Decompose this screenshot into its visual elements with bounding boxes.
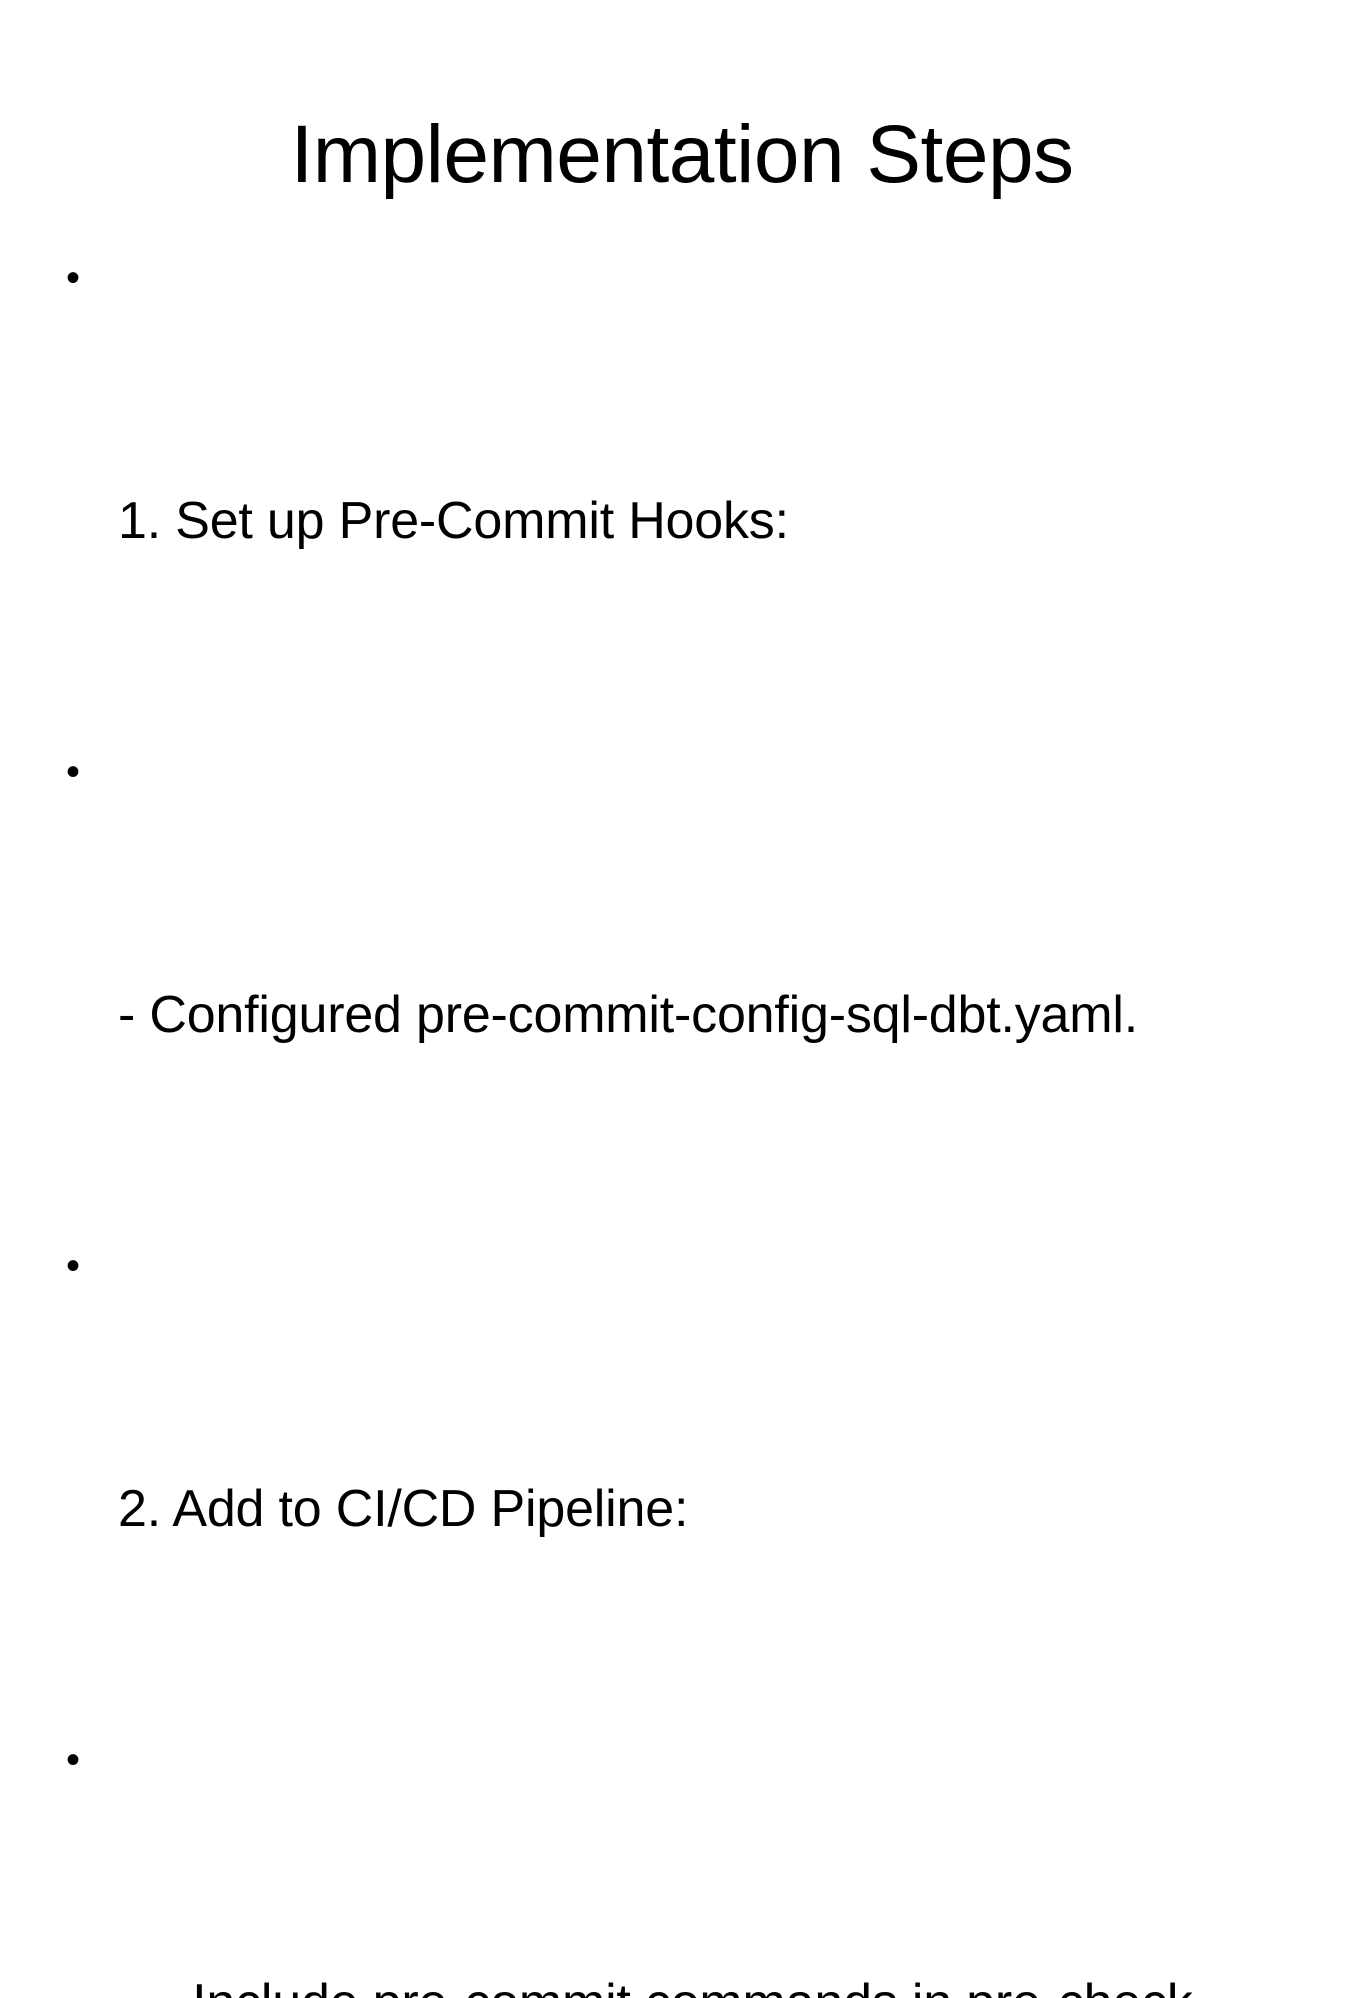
list-item[interactable]: • 2. Add to CI/CD Pipeline: [58,1226,1318,1712]
bullet-point-icon: • [66,732,90,813]
list-item-label: 1. Set up Pre-Commit Hooks: [118,481,1318,562]
page-title: Implementation Steps [0,107,1364,203]
presentation-slide: Implementation Steps • 1. Set up Pre-Com… [0,0,1364,999]
bullet-point-icon: • [66,238,90,319]
list-item-label: - Configured pre-commit-config-sql-dbt.y… [118,975,1318,1056]
bullet-point-icon: • [66,1226,90,1307]
list-item[interactable]: • - Configured pre-commit-config-sql-dbt… [58,732,1318,1218]
list-item[interactable]: • - Include pre-commit commands in pre-c… [58,1720,1318,1998]
list-item[interactable]: • 1. Set up Pre-Commit Hooks: [58,238,1318,724]
bullet-point-icon: • [66,1720,90,1801]
list-item-label: - Include pre-commit commands in pre-che… [118,1963,1318,1998]
list-item-label: 2. Add to CI/CD Pipeline: [118,1469,1318,1550]
bullet-list: • 1. Set up Pre-Commit Hooks: • - Config… [58,238,1318,1998]
